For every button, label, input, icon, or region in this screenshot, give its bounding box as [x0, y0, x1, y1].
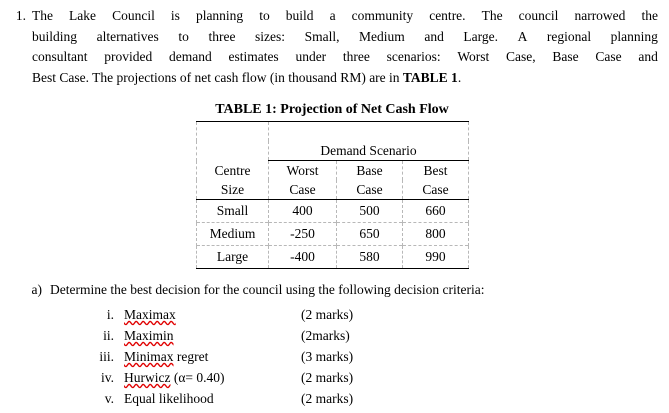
paragraph-word: The [482, 6, 503, 27]
criterion-name-hurwicz: Hurwicz (α= 0.40) [124, 367, 301, 388]
paragraph-line-4-suffix: . [458, 68, 461, 89]
paragraph-word: to [178, 27, 189, 48]
paragraph-word: building [32, 27, 77, 48]
criterion-numeral-5: v. [50, 388, 124, 409]
list-item: iv. Hurwicz (α= 0.40) (2 marks) [50, 367, 485, 388]
cell-large-best: 990 [403, 246, 469, 269]
paragraph-word: alternatives [97, 27, 159, 48]
paragraph-word: The [32, 6, 53, 27]
table-row: Small 400 500 660 [197, 200, 469, 223]
cell-large-worst: -400 [269, 246, 337, 269]
cell-small-base: 500 [337, 200, 403, 223]
cell-small-worst: 400 [269, 200, 337, 223]
paragraph-word: and [424, 27, 444, 48]
column-header-best-line1: Best [403, 161, 469, 181]
paragraph-word: is [171, 6, 180, 27]
paragraph-line-1: TheLakeCouncilisplanningtobuildacommunit… [32, 6, 658, 27]
criterion-name-hurwicz-word: Hurwicz [124, 370, 170, 385]
question-1-block: 1. TheLakeCouncilisplanningtobuildacommu… [0, 6, 669, 88]
criterion-name-maximin: Maximin [124, 325, 301, 346]
criterion-name-equal-likelihood: Equal likelihood [124, 388, 301, 409]
criterion-marks-3: (3 marks) [301, 346, 353, 367]
table-reference: TABLE 1 [403, 68, 458, 89]
column-header-base-line1: Base [337, 161, 403, 181]
question-1-row: 1. TheLakeCouncilisplanningtobuildacommu… [0, 6, 669, 88]
paragraph-line-2: buildingalternativestothreesizes:Small,M… [32, 27, 658, 48]
criterion-marks-5: (2 marks) [301, 388, 353, 409]
paragraph-word: and [638, 47, 658, 68]
paragraph-word: narrowed [574, 6, 625, 27]
criterion-numeral-2: ii. [50, 325, 124, 346]
centre-size-header-line2: Size [197, 180, 269, 200]
paragraph-word: Small, [305, 27, 340, 48]
paragraph-word: Worst [457, 47, 489, 68]
criterion-numeral-3: iii. [50, 346, 124, 367]
question-1-paragraph: TheLakeCouncilisplanningtobuildacommunit… [32, 6, 658, 88]
column-header-base-line2: Case [337, 180, 403, 200]
row-label-large: Large [197, 246, 269, 269]
criterion-name-minimax-rest: regret [174, 349, 209, 364]
row-label-small: Small [197, 200, 269, 223]
list-item: i. Maximax (2 marks) [50, 304, 485, 325]
paragraph-word: planning [196, 6, 243, 27]
criterion-name-hurwicz-rest: (α= 0.40) [170, 370, 224, 385]
part-a-block: a) Determine the best decision for the c… [0, 280, 669, 409]
paragraph-word: consultant [32, 47, 88, 68]
paragraph-word: three [343, 47, 370, 68]
paragraph-word: A [518, 27, 528, 48]
list-item: v. Equal likelihood (2 marks) [50, 388, 485, 409]
part-a-instruction: Determine the best decision for the coun… [50, 280, 485, 300]
spacer-cell-right [269, 122, 469, 142]
part-a-label: a) [0, 280, 50, 300]
paragraph-word: scenarios: [387, 47, 441, 68]
demand-scenario-header: Demand Scenario [269, 141, 469, 161]
paragraph-word: Large. [463, 27, 498, 48]
criteria-list: i. Maximax (2 marks) ii. Maximin (2marks… [50, 304, 485, 409]
paragraph-word: planning [611, 27, 658, 48]
paragraph-word: centre. [429, 6, 465, 27]
paragraph-line-3: consultantprovideddemandestimatesunderth… [32, 47, 658, 68]
paragraph-word: Council [112, 6, 155, 27]
paragraph-word: council [519, 6, 559, 27]
table-group-header-row: Demand Scenario [197, 141, 469, 161]
paragraph-word: Lake [69, 6, 96, 27]
paragraph-word: estimates [228, 47, 278, 68]
paragraph-word: to [259, 6, 270, 27]
table-title: TABLE 1: Projection of Net Cash Flow [196, 100, 468, 121]
criterion-marks-4: (2 marks) [301, 367, 353, 388]
paragraph-word: regional [547, 27, 591, 48]
table-top-spacer-row [197, 122, 469, 142]
paragraph-line-4: Best Case. The projections of net cash f… [32, 68, 658, 89]
table-row: Large -400 580 990 [197, 246, 469, 269]
table-row: Medium -250 650 800 [197, 223, 469, 246]
paragraph-word: provided [104, 47, 152, 68]
cell-medium-base: 650 [337, 223, 403, 246]
criterion-numeral-1: i. [50, 304, 124, 325]
centre-size-header-line1: Centre [197, 161, 269, 181]
column-header-worst-line2: Case [269, 180, 337, 200]
paragraph-word: under [295, 47, 326, 68]
paragraph-word: sizes: [255, 27, 285, 48]
cell-large-base: 580 [337, 246, 403, 269]
paragraph-line-4-prefix: Best Case. The projections of net cash f… [32, 68, 403, 89]
criterion-name-minimax-word: Minimax [124, 349, 174, 364]
paragraph-word: build [286, 6, 314, 27]
criterion-name-minimax-regret: Minimax regret [124, 346, 301, 367]
paragraph-word: Medium [359, 27, 405, 48]
criterion-name-maximax: Maximax [124, 304, 301, 325]
group-header-empty-cell [197, 141, 269, 161]
column-header-best-line2: Case [403, 180, 469, 200]
row-label-medium: Medium [197, 223, 269, 246]
criterion-numeral-4: iv. [50, 367, 124, 388]
table-1-container: TABLE 1: Projection of Net Cash Flow Dem… [196, 100, 468, 269]
criterion-marks-1: (2 marks) [301, 304, 353, 325]
list-item: ii. Maximin (2marks) [50, 325, 485, 346]
criterion-marks-2: (2marks) [301, 325, 350, 346]
list-item: iii. Minimax regret (3 marks) [50, 346, 485, 367]
paragraph-word: Case [595, 47, 621, 68]
cell-medium-best: 800 [403, 223, 469, 246]
part-a-row: a) Determine the best decision for the c… [0, 280, 669, 409]
paragraph-word: three [208, 27, 235, 48]
paragraph-word: the [641, 6, 658, 27]
criterion-name-maximax-text: Maximax [124, 307, 176, 322]
spacer-cell-left [197, 122, 269, 142]
question-number: 1. [0, 6, 32, 27]
paragraph-word: Base [552, 47, 578, 68]
paragraph-word: Case, [506, 47, 536, 68]
part-a-content: Determine the best decision for the coun… [50, 280, 485, 409]
criterion-name-maximin-text: Maximin [124, 328, 174, 343]
table-header-row-1: Centre Worst Base Best [197, 161, 469, 181]
net-cash-flow-table: Demand Scenario Centre Worst Base Best S… [196, 121, 469, 269]
cell-medium-worst: -250 [269, 223, 337, 246]
paragraph-word: demand [169, 47, 212, 68]
paragraph-word: community [352, 6, 414, 27]
column-header-worst-line1: Worst [269, 161, 337, 181]
paragraph-word: a [330, 6, 336, 27]
cell-small-best: 660 [403, 200, 469, 223]
table-header-row-2: Size Case Case Case [197, 180, 469, 200]
